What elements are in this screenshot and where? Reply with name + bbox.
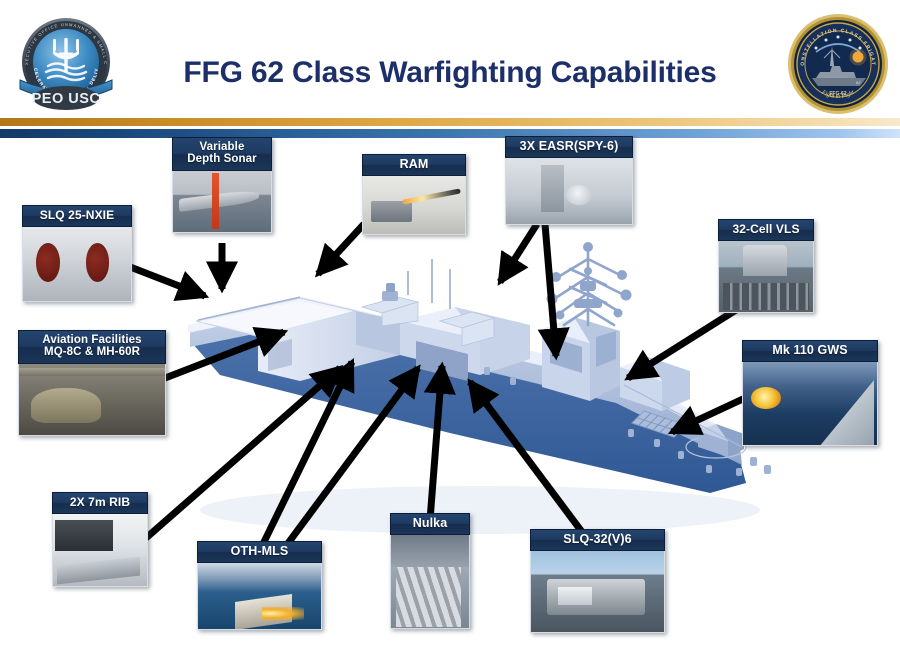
callout-label-easr-spy-6: 3X EASR(SPY-6)	[505, 136, 633, 158]
page-title: FFG 62 Class Warfighting Capabilities	[0, 56, 900, 90]
callout-mk-110-gws[interactable]: Mk 110 GWS	[742, 340, 878, 446]
callout-photo-32-cell-vls	[718, 241, 814, 313]
callout-photo-oth-mls	[197, 563, 322, 630]
callout-label-mk-110-gws: Mk 110 GWS	[742, 340, 878, 362]
callout-2x-7m-rib[interactable]: 2X 7m RIB	[52, 492, 148, 587]
callout-label-variable-depth-sonar: Variable Depth Sonar	[172, 137, 272, 171]
callout-slq-32-v6[interactable]: SLQ-32(V)6	[530, 529, 665, 633]
callout-label-2x-7m-rib: 2X 7m RIB	[52, 492, 148, 514]
callout-photo-2x-7m-rib	[52, 514, 148, 587]
callout-label-oth-mls: OTH-MLS	[197, 541, 322, 563]
callout-label-ram: RAM	[362, 154, 466, 176]
callout-slq-25-nxie[interactable]: SLQ 25-NXIE	[22, 205, 132, 302]
callout-easr-spy-6[interactable]: 3X EASR(SPY-6)	[505, 136, 633, 225]
callout-label-aviation-facilities: Aviation Facilities MQ-8C & MH-60R	[18, 330, 166, 364]
callout-photo-easr-spy-6	[505, 158, 633, 225]
callout-photo-aviation-facilities	[18, 364, 166, 436]
callout-photo-slq-25-nxie	[22, 227, 132, 302]
constellation-class-frigate-logo: 62 CONSTELLATION CLASS FRIGATE FFG-62 Fi…	[786, 12, 890, 116]
callout-photo-variable-depth-sonar	[172, 171, 272, 233]
callout-photo-nulka	[390, 535, 470, 629]
slide-canvas: PROGRAM EXECUTIVE OFFICE UNMANNED & SMAL…	[0, 0, 900, 650]
callout-label-slq-25-nxie: SLQ 25-NXIE	[22, 205, 132, 227]
callout-aviation-facilities[interactable]: Aviation Facilities MQ-8C & MH-60R	[18, 330, 166, 436]
slide-header: PROGRAM EXECUTIVE OFFICE UNMANNED & SMAL…	[0, 0, 900, 118]
callout-photo-mk-110-gws	[742, 362, 878, 446]
ffg-62-ship-render	[150, 225, 790, 555]
callout-label-32-cell-vls: 32-Cell VLS	[718, 219, 814, 241]
gold-divider-bar	[0, 118, 900, 126]
callout-ram[interactable]: RAM	[362, 154, 466, 235]
callout-variable-depth-sonar[interactable]: Variable Depth Sonar	[172, 137, 272, 233]
callout-photo-ram	[362, 176, 466, 235]
callout-label-nulka: Nulka	[390, 513, 470, 535]
blue-divider-bar	[0, 129, 900, 138]
callout-oth-mls[interactable]: OTH-MLS	[197, 541, 322, 630]
callout-nulka[interactable]: Nulka	[390, 513, 470, 629]
svg-text:62: 62	[856, 80, 861, 85]
callout-label-slq-32-v6: SLQ-32(V)6	[530, 529, 665, 551]
peo-usc-banner-text: PEO USC	[32, 91, 101, 107]
callout-photo-slq-32-v6	[530, 551, 665, 633]
callout-32-cell-vls[interactable]: 32-Cell VLS	[718, 219, 814, 313]
